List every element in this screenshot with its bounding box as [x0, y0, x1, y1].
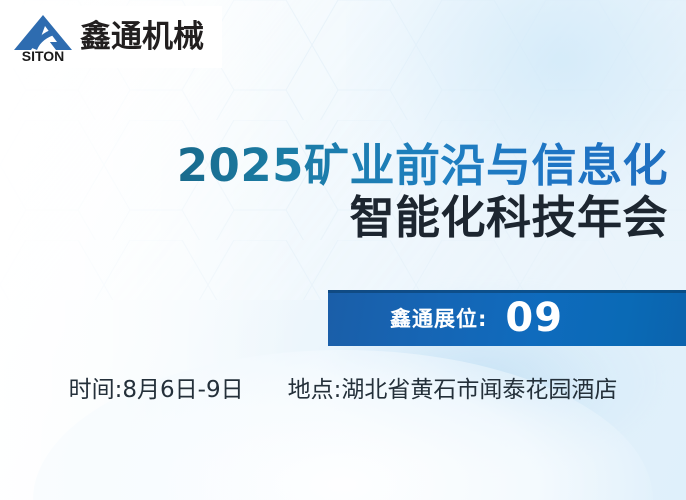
- booth-label: 鑫通展位:: [390, 303, 487, 333]
- event-details: 时间:8月6日-9日 地点:湖北省黄石市闻泰花园酒店: [0, 370, 686, 404]
- hexagon-pattern-background: [0, 0, 686, 500]
- booth-number-value: 09: [505, 298, 563, 338]
- left-white-wash: [0, 0, 300, 500]
- event-venue: 地点:湖北省黄石市闻泰花园酒店: [288, 370, 618, 404]
- event-date: 时间:8月6日-9日: [69, 370, 244, 404]
- logo-latin-text: SITON: [22, 48, 65, 62]
- booth-number-banner: 鑫通展位: 09: [328, 290, 686, 346]
- headline-block: 2025矿业前沿与信息化 智能化科技年会: [0, 142, 668, 244]
- brand-logo: SITON 鑫通机械: [0, 6, 222, 68]
- mountain-peak-icon: SITON: [12, 12, 74, 62]
- headline-line-1: 2025矿业前沿与信息化: [0, 142, 668, 189]
- event-poster: SITON 鑫通机械 2025矿业前沿与信息化 智能化科技年会 鑫通展位: 09…: [0, 0, 686, 500]
- headline-line-2: 智能化科技年会: [0, 193, 668, 243]
- logo-chinese-name: 鑫通机械: [80, 22, 204, 53]
